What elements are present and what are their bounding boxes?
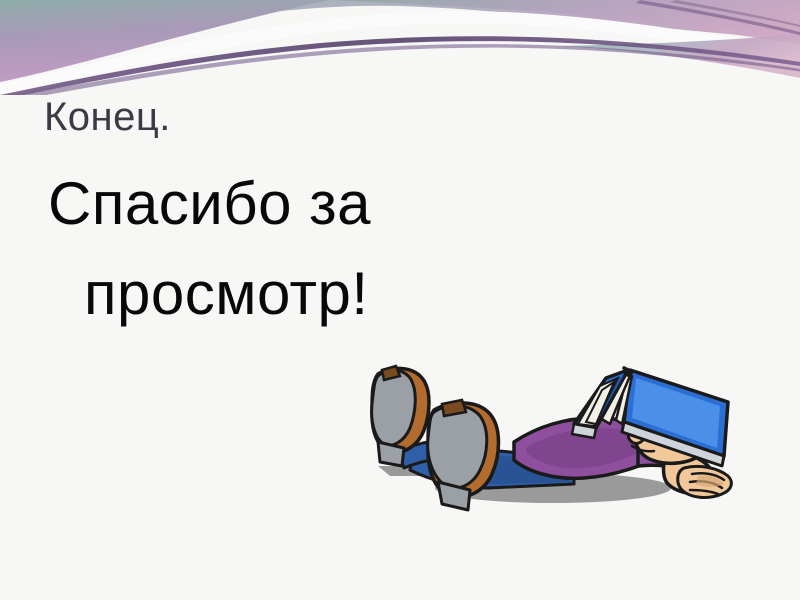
header-wave-graphic bbox=[0, 0, 800, 95]
heading-konec: Конец. bbox=[0, 88, 800, 146]
wave-thin-ribbon bbox=[0, 36, 800, 95]
slide-canvas: Конец. Спасибо за просмотр! bbox=[0, 0, 800, 600]
thanks-line-1: Спасибо за bbox=[0, 146, 800, 248]
wave-band-upper bbox=[0, 0, 800, 80]
wave-band-mid bbox=[330, 0, 800, 44]
wave-band-left bbox=[0, 0, 330, 82]
wave-top-stroke-1 bbox=[636, 0, 800, 35]
wave-band-right bbox=[560, 34, 800, 78]
wave-top-stroke-2 bbox=[670, 0, 800, 27]
wave-white-gap bbox=[0, 11, 800, 94]
thanks-line-2: просмотр! bbox=[0, 248, 800, 338]
illustration-person-lying-with-book bbox=[338, 348, 738, 516]
hand bbox=[678, 466, 732, 497]
slide-text-block: Конец. Спасибо за просмотр! bbox=[0, 88, 800, 338]
